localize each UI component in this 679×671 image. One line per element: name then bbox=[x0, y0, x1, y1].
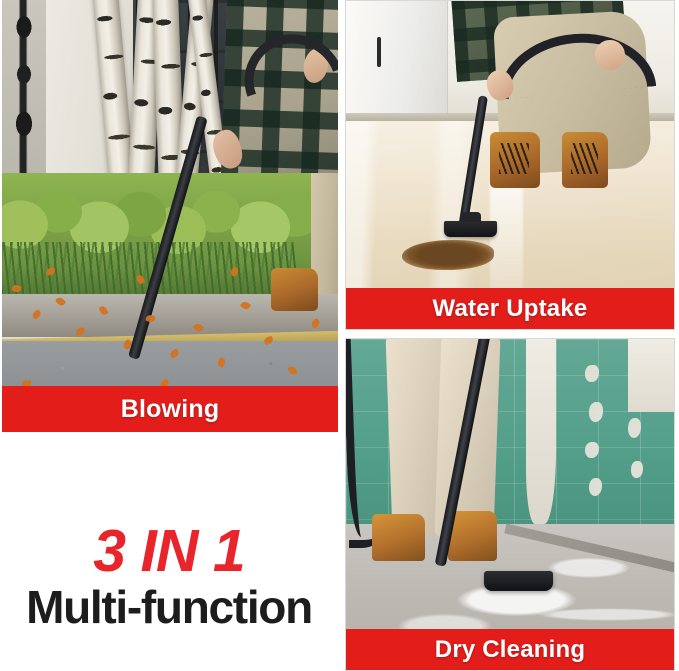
work-boot bbox=[490, 132, 539, 188]
liquid-spill bbox=[402, 240, 494, 270]
headline-3-in-1: 3 IN 1 bbox=[0, 520, 338, 582]
marketing-text-block: 3 IN 1 Multi-function bbox=[0, 520, 338, 660]
plaster-blob bbox=[585, 442, 598, 459]
work-boot bbox=[271, 268, 318, 311]
boot-laces bbox=[571, 143, 599, 174]
plaster-strip bbox=[526, 339, 556, 524]
floor-nozzle bbox=[484, 571, 553, 591]
cabinet-handle bbox=[377, 37, 381, 67]
caption-label-blowing: Blowing bbox=[121, 395, 220, 424]
caption-label-dry-cleaning: Dry Cleaning bbox=[435, 636, 585, 664]
product-feature-collage: Blowing Wa bbox=[0, 0, 679, 671]
hand-on-hose bbox=[595, 40, 625, 70]
plaster-strip bbox=[628, 339, 674, 412]
caption-label-water-uptake: Water Uptake bbox=[433, 295, 588, 323]
white-cabinet bbox=[346, 1, 448, 119]
panel-dry-cleaning: Dry Cleaning bbox=[345, 338, 675, 671]
blowing-photo bbox=[2, 0, 338, 432]
caption-banner-water-uptake: Water Uptake bbox=[346, 288, 674, 329]
work-boot bbox=[372, 514, 424, 560]
work-boot bbox=[562, 132, 608, 188]
work-boot bbox=[448, 511, 497, 561]
panel-water-uptake: Water Uptake bbox=[345, 0, 675, 330]
boot-laces bbox=[499, 143, 529, 174]
dry-cleaning-photo bbox=[346, 339, 674, 670]
floor-nozzle bbox=[444, 221, 496, 237]
caption-banner-dry-cleaning: Dry Cleaning bbox=[346, 629, 674, 670]
caption-banner-blowing: Blowing bbox=[2, 386, 338, 432]
plaster-blob bbox=[585, 365, 598, 382]
water-uptake-photo bbox=[346, 1, 674, 329]
panel-blowing: Blowing bbox=[2, 0, 338, 432]
subheadline-multi-function: Multi-function bbox=[0, 582, 338, 632]
